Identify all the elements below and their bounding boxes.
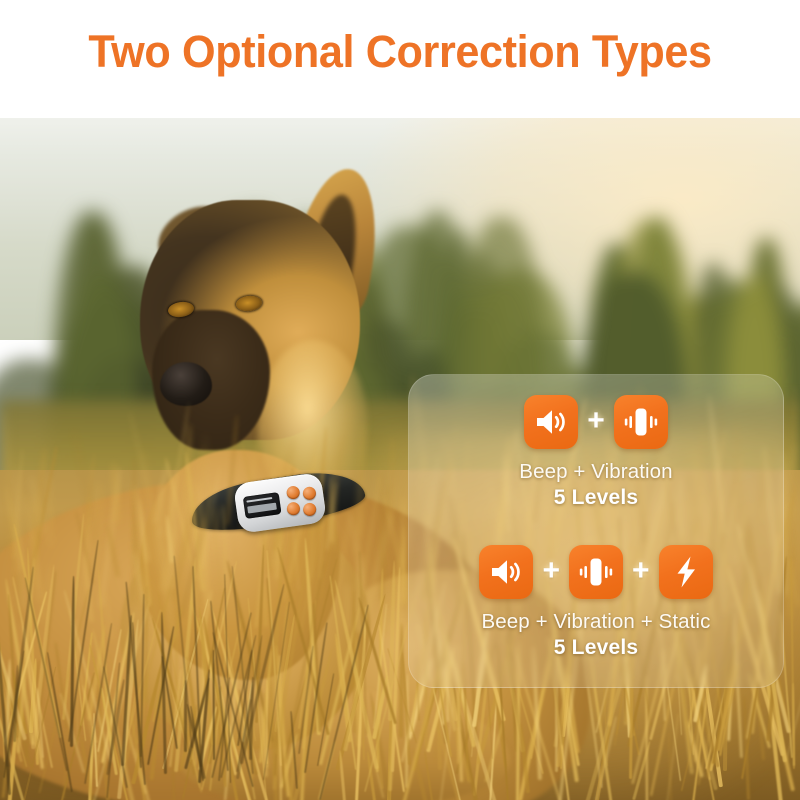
page-title: Two Optional Correction Types	[16, 26, 784, 78]
product-feature-image: + Beep + Vibration 5 Levels	[0, 0, 800, 800]
static-shock-icon[interactable]	[659, 545, 713, 599]
correction-modes-card: + Beep + Vibration 5 Levels	[408, 374, 784, 688]
plus-separator: +	[587, 406, 605, 439]
vibration-icon[interactable]	[614, 395, 668, 449]
mode-row-beep-vibration-static: + +	[409, 543, 783, 660]
mode-1-icon-line: +	[409, 393, 783, 451]
mode-1-label: Beep + Vibration	[409, 460, 783, 484]
plus-separator: +	[542, 556, 560, 589]
device-button-3	[286, 501, 301, 516]
headline-band: Two Optional Correction Types	[0, 0, 800, 118]
speaker-icon[interactable]	[524, 395, 578, 449]
mode-2-icon-line: + +	[409, 543, 783, 601]
device-button-1	[286, 485, 301, 500]
mode-row-beep-vibration: + Beep + Vibration 5 Levels	[409, 393, 783, 510]
vibration-icon[interactable]	[569, 545, 623, 599]
mode-2-levels: 5 Levels	[409, 636, 783, 660]
device-button-4	[302, 502, 317, 517]
device-button-2	[302, 486, 317, 501]
plus-separator: +	[632, 556, 650, 589]
device-screen	[243, 492, 282, 519]
mode-2-label: Beep + Vibration + Static	[409, 610, 783, 634]
mode-1-levels: 5 Levels	[409, 486, 783, 510]
speaker-icon[interactable]	[479, 545, 533, 599]
